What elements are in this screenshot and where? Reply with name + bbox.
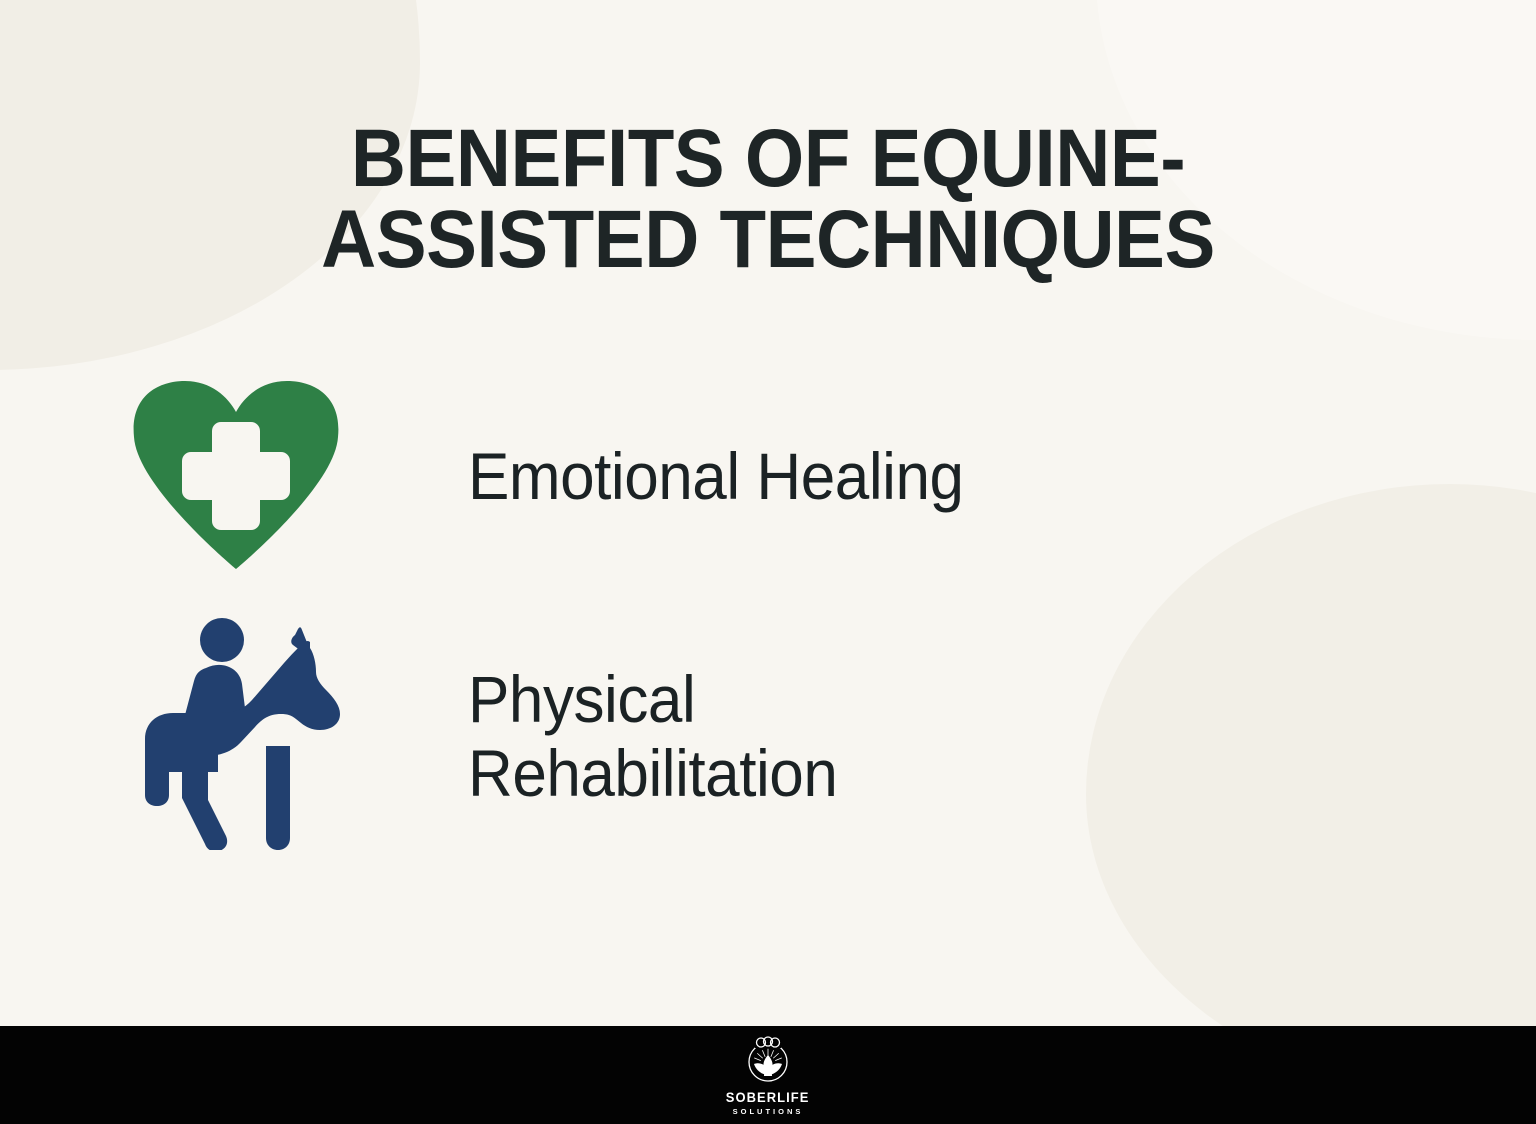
benefit-icon-container bbox=[0, 381, 468, 574]
horse-rider-icon bbox=[124, 618, 344, 855]
heart-medical-cross-icon bbox=[133, 381, 339, 574]
benefit-label: Emotional Healing bbox=[468, 440, 964, 514]
benefit-item-physical-rehabilitation: Physical Rehabilitation bbox=[0, 614, 1536, 859]
benefit-icon-container bbox=[0, 618, 468, 855]
benefit-item-emotional-healing: Emotional Healing bbox=[0, 372, 1536, 582]
slide-canvas: BENEFITS OF EQUINE- ASSISTED TECHNIQUES … bbox=[0, 0, 1536, 1124]
benefits-list: Emotional Healing bbox=[0, 372, 1536, 859]
page-title: BENEFITS OF EQUINE- ASSISTED TECHNIQUES bbox=[54, 118, 1482, 280]
logo-wordmark: SOBERLIFE bbox=[726, 1091, 810, 1105]
slide-content: BENEFITS OF EQUINE- ASSISTED TECHNIQUES … bbox=[0, 0, 1536, 1026]
footer-bar: SOBERLIFE SOLUTIONS bbox=[0, 1026, 1536, 1124]
soberlife-lotus-hands-emblem-icon bbox=[742, 1035, 794, 1090]
benefit-label: Physical Rehabilitation bbox=[468, 663, 837, 811]
logo-subwordmark: SOLUTIONS bbox=[733, 1108, 804, 1116]
